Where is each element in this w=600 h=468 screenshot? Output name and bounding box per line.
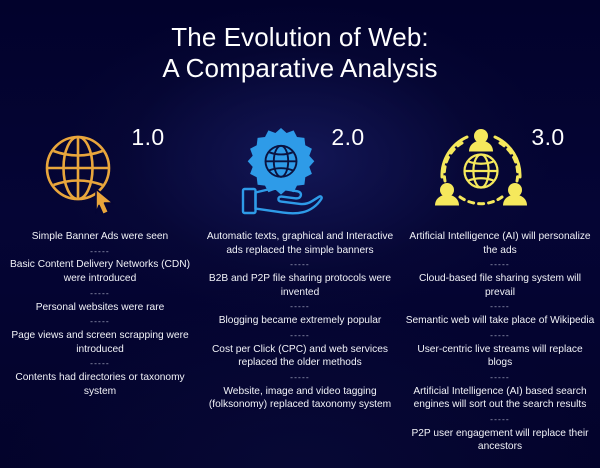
fact-separator: ----- [402, 413, 598, 426]
fact-separator: ----- [202, 371, 398, 384]
facts-list-web-1: Simple Banner Ads were seen ----- Basic … [2, 230, 198, 398]
fact-separator: ----- [202, 329, 398, 342]
fact-item: Cost per Click (CPC) and web services re… [202, 343, 398, 370]
fact-item: Automatic texts, graphical and Interacti… [202, 230, 398, 257]
fact-separator: ----- [2, 287, 198, 300]
fact-separator: ----- [2, 357, 198, 370]
icon-row-web-3: 3.0 [415, 120, 585, 224]
fact-separator: ----- [202, 300, 398, 313]
gear-globe-hand-icon [235, 123, 327, 221]
title-line-2: A Comparative Analysis [0, 53, 600, 84]
fact-item: P2P user engagement will replace their a… [402, 427, 598, 454]
column-web-2: 2.0 Automatic texts, graphical and Inter… [200, 120, 400, 412]
comparison-columns: 1.0 Simple Banner Ads were seen ----- Ba… [0, 120, 600, 468]
infographic-canvas: The Evolution of Web: A Comparative Anal… [0, 0, 600, 468]
semantic-network-globe-icon [435, 123, 527, 221]
fact-item: User-centric live streams will replace b… [402, 343, 598, 370]
fact-separator: ----- [202, 258, 398, 271]
fact-separator: ----- [402, 329, 598, 342]
fact-item: Artificial Intelligence (AI) based searc… [402, 385, 598, 412]
title-line-1: The Evolution of Web: [0, 22, 600, 53]
column-web-3: 3.0 Artificial Intelligence (AI) will pe… [400, 120, 600, 454]
fact-item: Artificial Intelligence (AI) will person… [402, 230, 598, 257]
fact-item: Contents had directories or taxonomy sys… [2, 371, 198, 398]
fact-separator: ----- [402, 258, 598, 271]
column-web-1: 1.0 Simple Banner Ads were seen ----- Ba… [0, 120, 200, 398]
icon-row-web-2: 2.0 [215, 120, 385, 224]
fact-item: Personal websites were rare [2, 301, 198, 315]
fact-separator: ----- [2, 245, 198, 258]
page-title: The Evolution of Web: A Comparative Anal… [0, 22, 600, 83]
globe-cursor-icon [35, 123, 127, 221]
version-label-web-2: 2.0 [331, 126, 364, 149]
version-label-web-1: 1.0 [131, 126, 164, 149]
fact-separator: ----- [402, 371, 598, 384]
facts-list-web-3: Artificial Intelligence (AI) will person… [402, 230, 598, 454]
fact-item: Semantic web will take place of Wikipedi… [402, 314, 598, 328]
fact-item: Page views and screen scrapping were int… [2, 329, 198, 356]
fact-separator: ----- [402, 300, 598, 313]
facts-list-web-2: Automatic texts, graphical and Interacti… [202, 230, 398, 412]
icon-row-web-1: 1.0 [15, 120, 185, 224]
fact-separator: ----- [2, 315, 198, 328]
fact-item: Simple Banner Ads were seen [2, 230, 198, 244]
fact-item: Blogging became extremely popular [202, 314, 398, 328]
fact-item: Basic Content Delivery Networks (CDN) we… [2, 258, 198, 285]
version-label-web-3: 3.0 [531, 126, 564, 149]
fact-item: Website, image and video tagging (folkso… [202, 385, 398, 412]
fact-item: B2B and P2P file sharing protocols were … [202, 272, 398, 299]
fact-item: Cloud-based file sharing system will pre… [402, 272, 598, 299]
